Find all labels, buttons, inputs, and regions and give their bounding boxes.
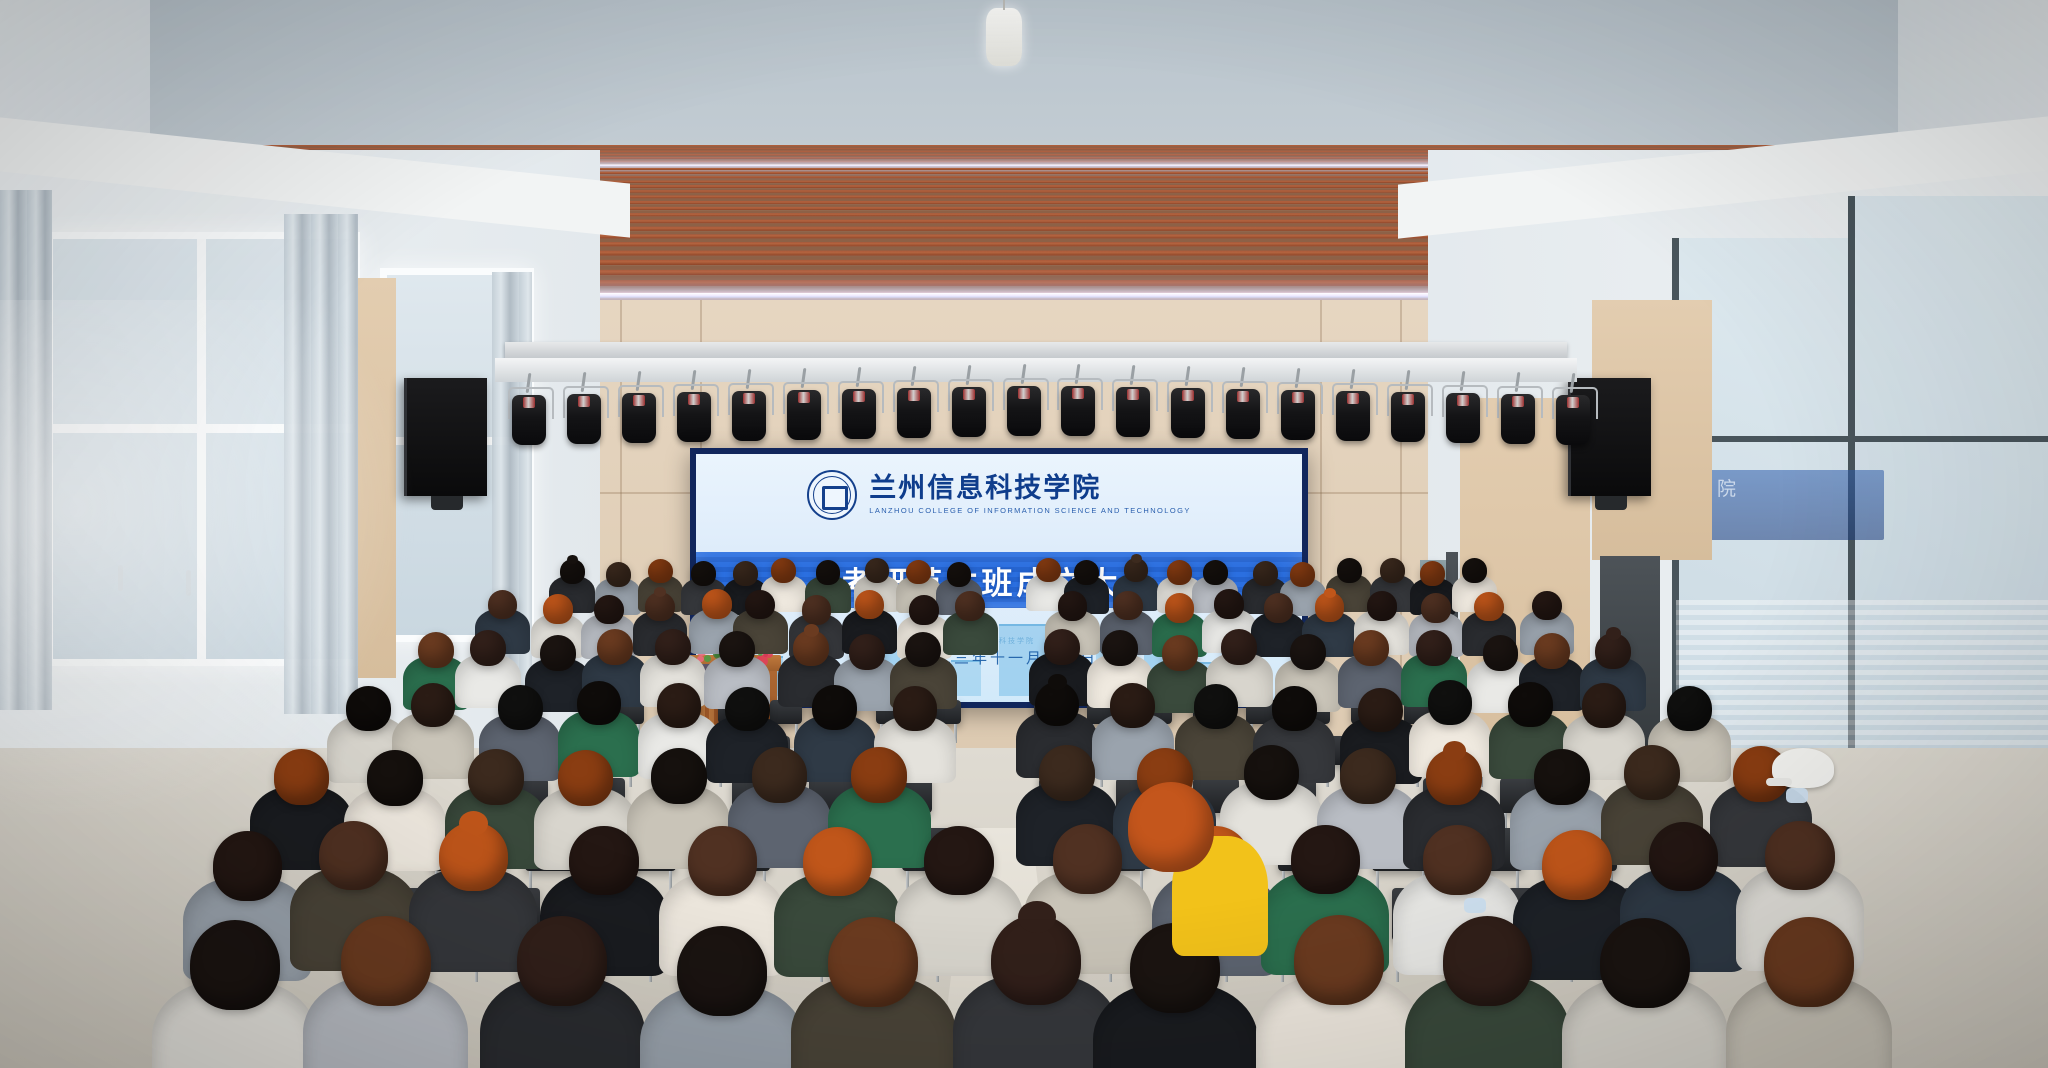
audience-head <box>1291 825 1360 894</box>
screen-logo-row: 兰州信息科技学院 LANZHOU COLLEGE OF INFORMATION … <box>696 470 1302 520</box>
audience-head <box>1253 561 1278 586</box>
audience-head <box>1582 683 1627 728</box>
audience-head <box>1421 593 1451 623</box>
audience-head <box>691 561 716 586</box>
audience-head <box>1036 558 1061 583</box>
audience-head <box>1380 558 1405 583</box>
audience-head <box>802 595 832 625</box>
stage-light <box>1171 384 1205 442</box>
audience-head <box>319 821 388 890</box>
audience-head <box>1167 560 1192 585</box>
audience-head <box>1764 917 1854 1007</box>
audience-head <box>411 683 456 728</box>
stage-light <box>1336 387 1370 445</box>
audience-head <box>1624 745 1680 801</box>
audience-head <box>213 831 282 900</box>
audience-head <box>648 559 673 584</box>
audience-head <box>1534 633 1570 669</box>
stage-light <box>1061 382 1095 440</box>
face-mask <box>1786 788 1808 803</box>
stage-light <box>732 387 766 445</box>
audience-head <box>1074 560 1099 585</box>
audience-head <box>1194 684 1239 729</box>
stage-light <box>1116 383 1150 441</box>
audience-head <box>893 686 938 731</box>
stage-light <box>1446 389 1480 447</box>
audience-head <box>1353 630 1389 666</box>
stage-light <box>1226 385 1260 443</box>
audience-head <box>1534 749 1590 805</box>
stage-light <box>1281 386 1315 444</box>
institution-name-cn: 兰州信息科技学院 <box>869 475 1190 502</box>
hair-bun <box>567 555 577 564</box>
audience-head <box>470 630 506 666</box>
stage-light <box>622 389 656 447</box>
stage-light <box>897 384 931 442</box>
audience-head <box>1221 629 1257 665</box>
face-mask <box>1464 898 1486 913</box>
audience-head <box>606 562 631 587</box>
audience-head <box>1113 591 1143 621</box>
audience-head <box>677 926 767 1016</box>
audience-head <box>1044 629 1080 665</box>
audience-head <box>909 595 939 625</box>
audience-head <box>1462 558 1487 583</box>
audience-head <box>540 635 576 671</box>
audience-head <box>346 686 391 731</box>
audience-head <box>1165 593 1195 623</box>
audience-head <box>1765 821 1834 890</box>
audience-head <box>1162 635 1198 671</box>
audience-head <box>745 590 775 620</box>
audience-head <box>1428 680 1473 725</box>
window-handle[interactable] <box>118 565 123 591</box>
hair-bun <box>1018 901 1056 933</box>
audience-head <box>543 594 573 624</box>
stage-light <box>567 390 601 448</box>
audience-head <box>771 558 796 583</box>
audience-head <box>702 589 732 619</box>
audience-head <box>1290 634 1326 670</box>
audience-head <box>1110 683 1155 728</box>
audience-head <box>1102 630 1138 666</box>
audience-head <box>1340 748 1396 804</box>
stage-light <box>1007 382 1041 440</box>
audience-head <box>733 561 758 586</box>
audience-head <box>190 920 280 1010</box>
glass-wall-banner: 学院 <box>1684 470 1884 540</box>
audience-head <box>812 685 857 730</box>
ceiling-slat <box>209 145 1839 147</box>
audience-head <box>558 750 614 806</box>
hair-bun <box>1606 627 1621 640</box>
stage-light <box>787 386 821 444</box>
audience-head <box>1508 682 1553 727</box>
audience-head <box>1443 916 1533 1006</box>
audience-head <box>1367 591 1397 621</box>
audience-head <box>468 749 524 805</box>
audience-head <box>594 595 624 625</box>
audience-head <box>1203 560 1228 585</box>
window-handle[interactable] <box>186 570 191 596</box>
stage-light <box>1556 391 1590 449</box>
audience-head <box>1420 561 1445 586</box>
audience-head <box>725 687 770 732</box>
audience-head <box>947 562 972 587</box>
audience-head <box>955 591 985 621</box>
orange-hair-head <box>1128 782 1214 872</box>
curtain-left-a[interactable] <box>0 190 52 710</box>
audience-head <box>367 750 423 806</box>
audience-head <box>655 629 691 665</box>
stage-light <box>842 385 876 443</box>
audience-head <box>1667 686 1712 731</box>
audience-head <box>577 681 622 726</box>
audience-head <box>1290 562 1315 587</box>
audience-head <box>1272 686 1317 731</box>
stage-light <box>952 383 986 441</box>
stage-light <box>677 388 711 446</box>
hair-bun <box>1131 554 1141 563</box>
audience-head <box>828 917 918 1007</box>
audience-head <box>597 629 633 665</box>
white-cap <box>1772 748 1834 788</box>
audience-head <box>1532 591 1562 621</box>
audience-head <box>1542 830 1611 899</box>
audience-head <box>851 747 907 803</box>
audience-head <box>1358 688 1403 733</box>
audience-head <box>651 748 707 804</box>
audience-head <box>752 747 808 803</box>
audience-head <box>924 826 993 895</box>
audience-head <box>274 749 330 805</box>
audience-head <box>855 590 885 620</box>
audience-head <box>1474 592 1504 622</box>
wall-speaker-left <box>404 378 487 496</box>
flower <box>704 655 711 662</box>
audience-head <box>905 632 941 668</box>
audience-head <box>1053 824 1122 893</box>
audience-head <box>816 560 841 585</box>
lecture-hall-photo: 学院 兰州信息科技学院 LANZHOU COLLEGE OF INFORMATI… <box>0 0 2048 1068</box>
audience-head <box>906 560 931 585</box>
audience-head <box>569 826 638 895</box>
glass-frame <box>1676 436 2048 442</box>
stage-light <box>1501 390 1535 448</box>
audience-head <box>418 632 454 668</box>
audience-head <box>657 683 702 728</box>
audience-head <box>1416 630 1452 666</box>
audience-head <box>341 916 431 1006</box>
audience-head <box>865 558 890 583</box>
audience-head <box>1337 558 1362 583</box>
hair-bun <box>804 624 819 637</box>
audience-head <box>1294 915 1384 1005</box>
wood-pillar-left <box>358 278 396 678</box>
hair-bun <box>1443 741 1466 761</box>
audience-head <box>488 590 518 620</box>
audience-head <box>803 827 872 896</box>
audience-head <box>517 916 607 1006</box>
institution-name-en: LANZHOU COLLEGE OF INFORMATION SCIENCE A… <box>869 506 1190 515</box>
audience-head <box>1483 635 1519 671</box>
audience-head <box>1244 745 1300 801</box>
audience-head <box>1649 822 1718 891</box>
pendant-lamp <box>986 8 1022 66</box>
audience-head <box>1214 589 1244 619</box>
audience-head <box>1039 745 1095 801</box>
university-seal-icon <box>807 470 857 520</box>
audience-head <box>1600 918 1690 1008</box>
audience-head <box>719 631 755 667</box>
audience-head <box>1423 825 1492 894</box>
curtain-left-b[interactable] <box>284 214 358 714</box>
stage-light <box>1391 388 1425 446</box>
audience-head <box>498 685 543 730</box>
audience-head <box>688 826 757 895</box>
audience-head <box>1058 591 1088 621</box>
stage-light <box>512 391 546 449</box>
audience-head <box>849 634 885 670</box>
audience-head <box>1264 593 1294 623</box>
